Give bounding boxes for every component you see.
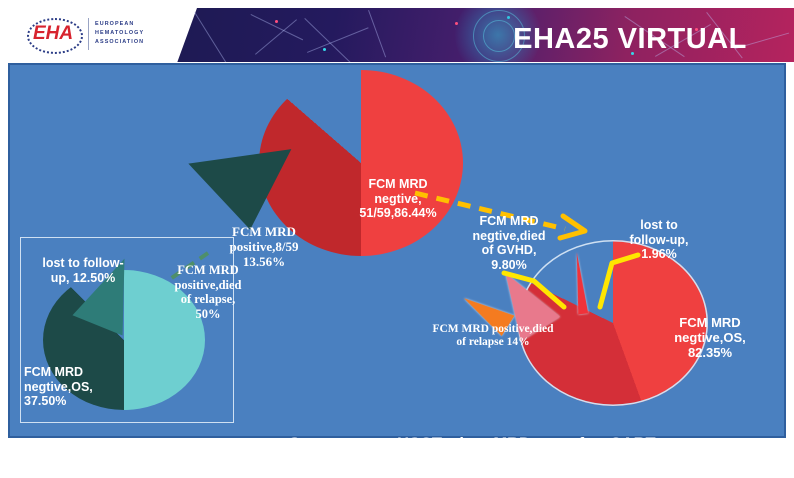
logo-abbreviation: EHA [30,21,76,47]
logo-association-name: EUROPEAN HEMATOLOGY ASSOCIATION [95,20,155,47]
eha-logo-mark: EHA [22,14,84,54]
slide-caption: Green group: HSCT when MRD pos after CAR… [288,434,778,478]
eha-logo: EHA EUROPEAN HEMATOLOGY ASSOCIATION [22,14,148,54]
label-green-lost-followup: lost to follow- up, 12.50% [28,256,138,285]
slide-content-panel: FCM MRD negtive, 51/59,86.44% FCM MRD po… [8,63,786,438]
logo-divider [88,18,89,50]
label-red-relapse: FCM MRD positive,died of relapse 14% [402,323,584,350]
header-banner: EHA25 VIRTUAL [155,8,794,62]
label-red-gvhd: FCM MRD negtive,died of GVHD, 9.80% [454,214,564,272]
label-red-os: FCM MRD negtive,OS, 82.35% [650,315,770,360]
network-line [255,19,297,54]
slide-header: EHA EUROPEAN HEMATOLOGY ASSOCIATION EHA2… [0,0,794,62]
label-green-os: FCM MRD negtive,OS, 37.50% [24,365,118,409]
network-dot [323,48,326,51]
network-line [368,10,386,57]
label-green-relapse: FCM MRD positive,died of relapse, 50% [160,263,256,321]
network-dot [275,20,278,23]
event-title: EHA25 VIRTUAL [465,19,794,59]
network-line [304,18,355,62]
label-red-lost-followup: lost to follow-up, 1.96% [606,218,712,262]
network-line [194,12,228,62]
banner-skew-edge [155,8,197,62]
